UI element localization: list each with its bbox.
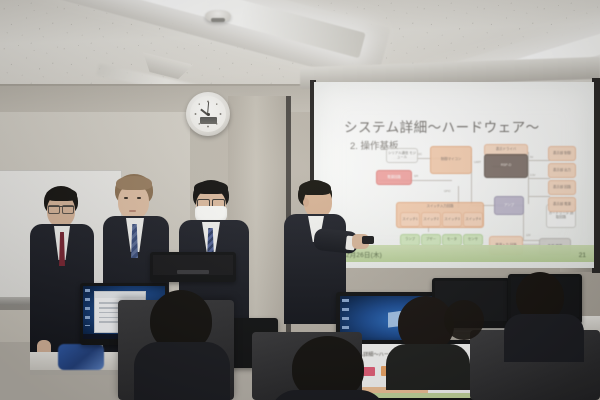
eye-right xyxy=(137,197,141,199)
diagram-block: 表示部 出力 xyxy=(548,163,576,178)
diagram-block: スイッチ1 xyxy=(400,212,420,227)
window-titlebar xyxy=(95,292,144,297)
monitor-brand-label xyxy=(177,270,209,274)
glasses-lens-right xyxy=(62,205,74,214)
diagram-block: シリアル通信 モジュール xyxy=(386,148,418,163)
diagram-block: スイッチ3 xyxy=(442,212,462,227)
glasses-lens-left xyxy=(48,205,60,214)
hair-front xyxy=(299,181,331,195)
shoulders xyxy=(386,344,470,390)
head xyxy=(444,300,484,340)
monitor-m2 xyxy=(150,252,236,282)
wire-label: I2C xyxy=(418,153,422,156)
smoke-detector-icon xyxy=(205,10,231,22)
wire-label: 12V xyxy=(526,234,531,237)
wire-label: 5V xyxy=(530,156,533,159)
diagram-block: 表示部 電源 xyxy=(548,197,576,212)
eye-left xyxy=(124,197,128,199)
presentation-remote xyxy=(362,236,374,244)
wire-label: SPI xyxy=(414,175,418,178)
diagram-block: アンプ xyxy=(494,196,524,215)
shoulders xyxy=(270,390,386,400)
hair-front xyxy=(46,188,77,201)
wire xyxy=(528,160,550,161)
monitor-m2-screen xyxy=(153,255,233,275)
wire-label: GPIO xyxy=(444,190,451,193)
clock-digital-inset xyxy=(200,117,217,124)
diagram-block: 制御マイコン xyxy=(430,146,472,174)
slide-title: システム詳細～ハードウェア～ xyxy=(344,116,574,136)
hair-front xyxy=(194,181,228,194)
diagram-block: 電源回路 xyxy=(376,170,412,185)
diagram-block: スイッチ2 xyxy=(421,212,441,227)
wire xyxy=(528,178,550,179)
diagram-block: RSP-D xyxy=(484,154,528,178)
hair-front xyxy=(116,176,152,190)
diagram-block: 表示部 制御 xyxy=(548,146,576,161)
wire-label: UART xyxy=(474,161,481,164)
diagram-block: 表示部 回路 xyxy=(548,180,576,195)
blue-bag xyxy=(58,344,104,370)
taskbar-icons xyxy=(85,289,91,326)
clock-center-pin xyxy=(207,113,210,116)
ear xyxy=(303,198,309,207)
diagram-block: スイッチ4 xyxy=(463,212,483,227)
taskbar-icons xyxy=(342,299,349,334)
wire-label: 3.3V xyxy=(530,174,535,177)
mouth xyxy=(129,210,136,212)
shoulders xyxy=(504,314,584,362)
wire xyxy=(528,196,550,197)
slide-footer-page: 21 xyxy=(579,252,586,259)
wall-clock xyxy=(186,92,230,136)
shoulders xyxy=(134,342,230,400)
classroom-presentation-photo: システム詳細～ハードウェア～ 2. 操作基板 シリアル通信 モジュール 電源回路… xyxy=(0,0,600,400)
